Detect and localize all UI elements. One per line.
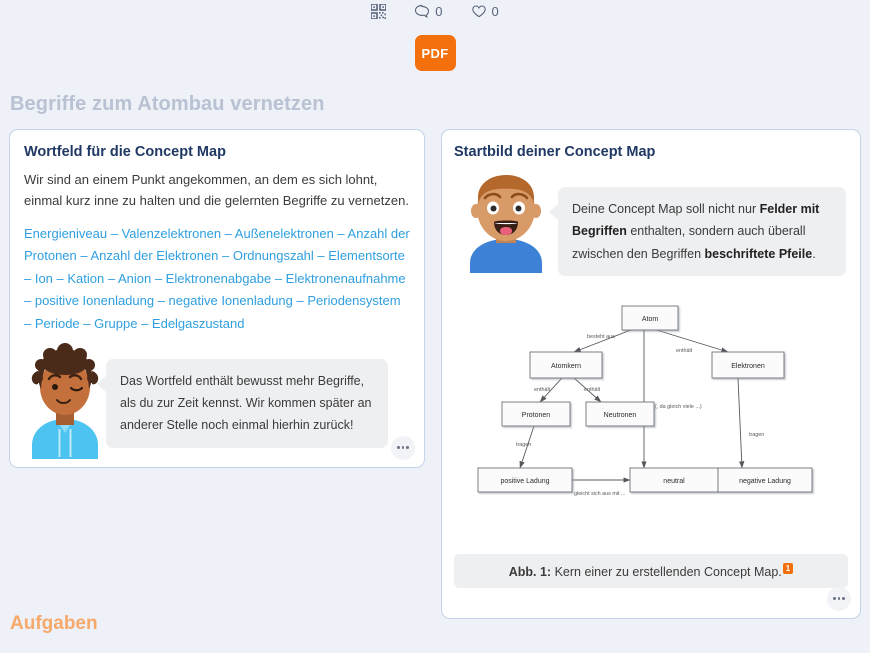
section-heading-aufgaben: Aufgaben <box>10 613 98 635</box>
wortfeld-term-list: Energieniveau – Valenzelektronen – Außen… <box>24 223 410 335</box>
pdf-export-button[interactable]: PDF <box>415 35 456 71</box>
more-options-button-left[interactable] <box>391 436 415 460</box>
node-label-atomkern: Atomkern <box>551 363 581 370</box>
speech-bubble-right: Deine Concept Map soll nicht nur Felder … <box>558 187 846 276</box>
figure-caption: Abb. 1: Kern einer zu erstellenden Conce… <box>454 554 848 588</box>
edge-label-enthaelt-elektronen: enthält <box>676 348 693 354</box>
concept-map-figure[interactable]: besteht aus enthält ist (, da gleich vie… <box>454 290 848 548</box>
figure-caption-prefix: Abb. 1: <box>509 565 551 579</box>
heart-icon <box>471 4 487 19</box>
kebab-dot <box>842 597 845 600</box>
speech-bubble-left: Das Wortfeld enthält bewusst mehr Begrif… <box>106 359 388 448</box>
student-avatar-smiling <box>454 169 558 273</box>
node-label-protonen: Protonen <box>522 412 551 419</box>
more-options-button-right[interactable] <box>827 587 851 611</box>
edge-label-enthaelt-protonen: enthält <box>534 387 551 393</box>
speech-bubble-right-bold2: beschriftete Pfeile <box>705 247 813 261</box>
kebab-dot <box>406 446 409 449</box>
edge-label-gleicht-sich-aus: gleicht sich aus mit ... <box>574 491 626 497</box>
footnote-badge[interactable]: 1 <box>783 563 793 574</box>
speech-bubble-left-text: Das Wortfeld enthält bewusst mehr Begrif… <box>120 374 371 433</box>
comment-bubble-icon <box>414 4 430 19</box>
card-startbild: Startbild deiner Concept Map <box>441 129 861 619</box>
pdf-button-row: PDF <box>0 35 870 71</box>
edge-label-ist-gleich-viele: ist (, da gleich viele ...) <box>648 404 702 410</box>
node-label-negative-ladung: negative Ladung <box>739 478 791 485</box>
speech-bubble-right-part1: Deine Concept Map soll nicht nur <box>572 202 760 216</box>
wortfeld-intro-text: Wir sind an einem Punkt angekommen, an d… <box>24 169 410 211</box>
concept-map-svg: besteht aus enthält ist (, da gleich vie… <box>454 290 850 542</box>
node-label-positive-ladung: positive Ladung <box>500 478 549 485</box>
concept-map-nodes <box>478 306 812 492</box>
card-title-startbild: Startbild deiner Concept Map <box>454 144 848 160</box>
node-label-neutronen: Neutronen <box>604 412 637 419</box>
page-title: Begriffe zum Atombau vernetzen <box>10 93 870 116</box>
comment-count-button[interactable]: 0 <box>414 4 442 19</box>
like-count-button[interactable]: 0 <box>471 4 499 19</box>
node-label-neutral: neutral <box>663 478 685 485</box>
kebab-dot <box>402 446 405 449</box>
cards-container: Wortfeld für die Concept Map Wir sind an… <box>0 116 870 619</box>
edge-label-enthaelt-neutronen: enthält <box>584 387 601 393</box>
kebab-dot <box>397 446 400 449</box>
node-label-atom: Atom <box>642 316 659 323</box>
speech-block-right: Deine Concept Map soll nicht nur Felder … <box>454 169 848 276</box>
qr-code-button[interactable] <box>371 4 386 19</box>
node-label-elektronen: Elektronen <box>731 363 765 370</box>
qr-code-icon <box>371 4 386 19</box>
figure-caption-text: Kern einer zu erstellenden Concept Map. <box>551 565 782 579</box>
speech-bubble-right-bold1b: Begriffen <box>572 224 627 238</box>
kebab-dot <box>833 597 836 600</box>
card-title-wortfeld: Wortfeld für die Concept Map <box>24 144 410 160</box>
student-avatar-winking <box>24 341 106 459</box>
speech-bubble-right-part3: . <box>812 247 815 261</box>
comment-count: 0 <box>435 4 442 19</box>
page-meta-bar: 0 0 <box>0 0 870 22</box>
card-wortfeld: Wortfeld für die Concept Map Wir sind an… <box>9 129 425 468</box>
concept-map-node-labels: Atom Atomkern Elektronen Protonen Neutro… <box>500 316 791 485</box>
edge-label-tragen-elektronen: tragen <box>749 432 764 438</box>
like-count: 0 <box>492 4 499 19</box>
speech-bubble-right-bold1a: Felder mit <box>760 202 820 216</box>
edge-label-besteht-aus: besteht aus <box>587 334 615 340</box>
speech-block-left: Das Wortfeld enthält bewusst mehr Begrif… <box>24 341 410 459</box>
edge-label-tragen-protonen: tragen <box>516 442 531 448</box>
kebab-dot <box>838 597 841 600</box>
